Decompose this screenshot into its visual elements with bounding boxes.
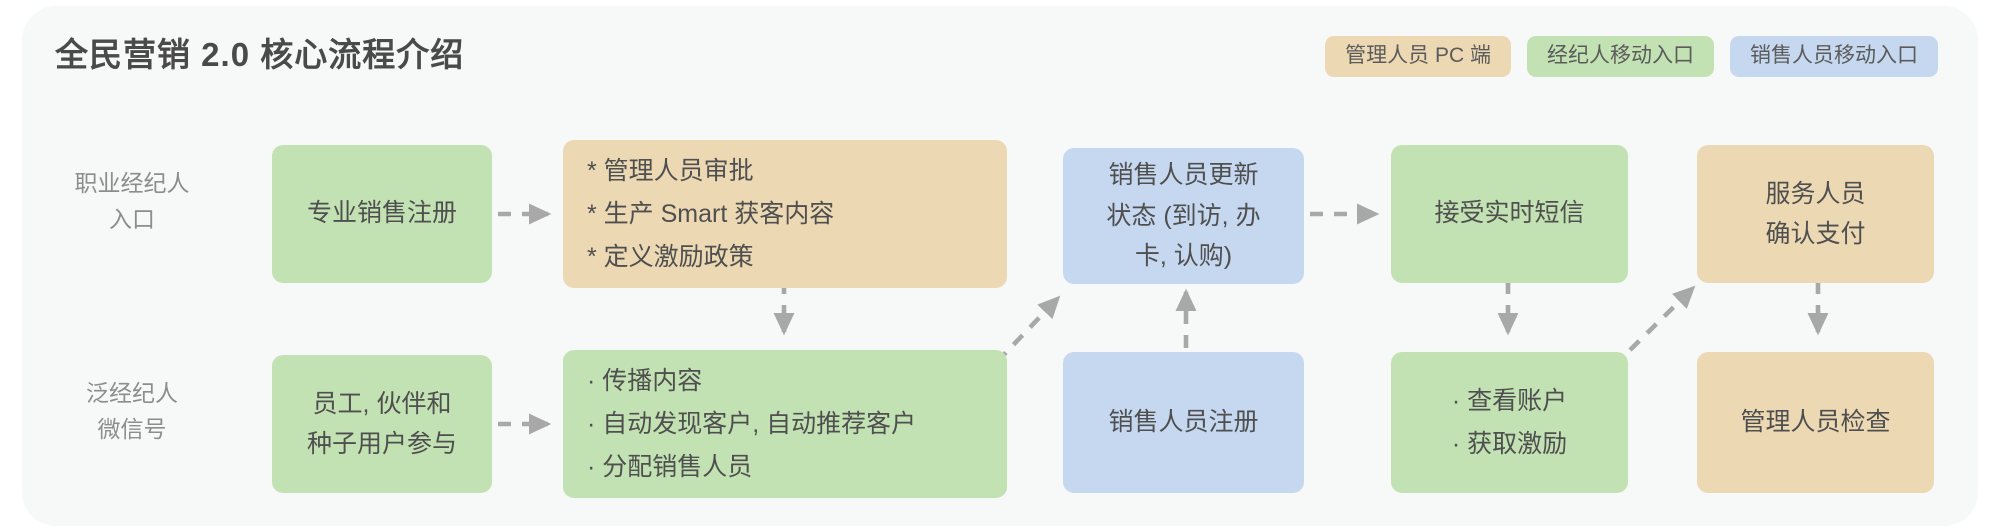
node-label: 销售人员注册 — [1063, 404, 1304, 442]
node-label: 服务人员 确认支付 — [1697, 174, 1934, 255]
node-label: 专业销售注册 — [272, 195, 492, 233]
node-label: * 管理人员审批 * 生产 Smart 获客内容 * 定义激励政策 — [563, 150, 1007, 279]
node-service-confirm-payment[interactable]: 服务人员 确认支付 — [1697, 145, 1934, 283]
row-label-professional-agent: 职业经纪人 入口 — [32, 166, 232, 237]
node-employees-partners-seed-users[interactable]: 员工, 伙伴和 种子用户参与 — [272, 355, 492, 493]
node-content-distribution-tasks[interactable]: · 传播内容 · 自动发现客户, 自动推荐客户 · 分配销售人员 — [563, 350, 1007, 498]
legend-badge-sales-mobile[interactable]: 销售人员移动入口 — [1730, 36, 1938, 77]
node-sales-update-status[interactable]: 销售人员更新 状态 (到访, 办 卡, 认购) — [1063, 148, 1304, 284]
node-professional-sales-register[interactable]: 专业销售注册 — [272, 145, 492, 283]
node-label: · 传播内容 · 自动发现客户, 自动推荐客户 · 分配销售人员 — [563, 360, 1007, 489]
node-label: 员工, 伙伴和 种子用户参与 — [272, 384, 492, 465]
row-label-general-agent: 泛经纪人 微信号 — [32, 376, 232, 447]
node-label: 接受实时短信 — [1391, 195, 1628, 233]
diagram-canvas: 全民营销 2.0 核心流程介绍 管理人员 PC 端 经纪人移动入口 销售人员移动… — [0, 0, 2000, 532]
node-admin-inspection[interactable]: 管理人员检查 — [1697, 352, 1934, 493]
legend-badge-agent-mobile[interactable]: 经纪人移动入口 — [1527, 36, 1714, 77]
node-admin-approval-tasks[interactable]: * 管理人员审批 * 生产 Smart 获客内容 * 定义激励政策 — [563, 140, 1007, 288]
page-title: 全民营销 2.0 核心流程介绍 — [55, 28, 464, 76]
legend: 管理人员 PC 端 经纪人移动入口 销售人员移动入口 — [1325, 36, 1938, 77]
node-receive-realtime-sms[interactable]: 接受实时短信 — [1391, 145, 1628, 283]
node-label: · 查看账户 · 获取激励 — [1391, 380, 1628, 466]
node-label: 管理人员检查 — [1697, 404, 1934, 442]
legend-badge-admin-pc[interactable]: 管理人员 PC 端 — [1325, 36, 1511, 77]
node-label: 销售人员更新 状态 (到访, 办 卡, 认购) — [1063, 155, 1304, 277]
node-sales-register[interactable]: 销售人员注册 — [1063, 352, 1304, 493]
node-view-account-get-incentive[interactable]: · 查看账户 · 获取激励 — [1391, 352, 1628, 493]
